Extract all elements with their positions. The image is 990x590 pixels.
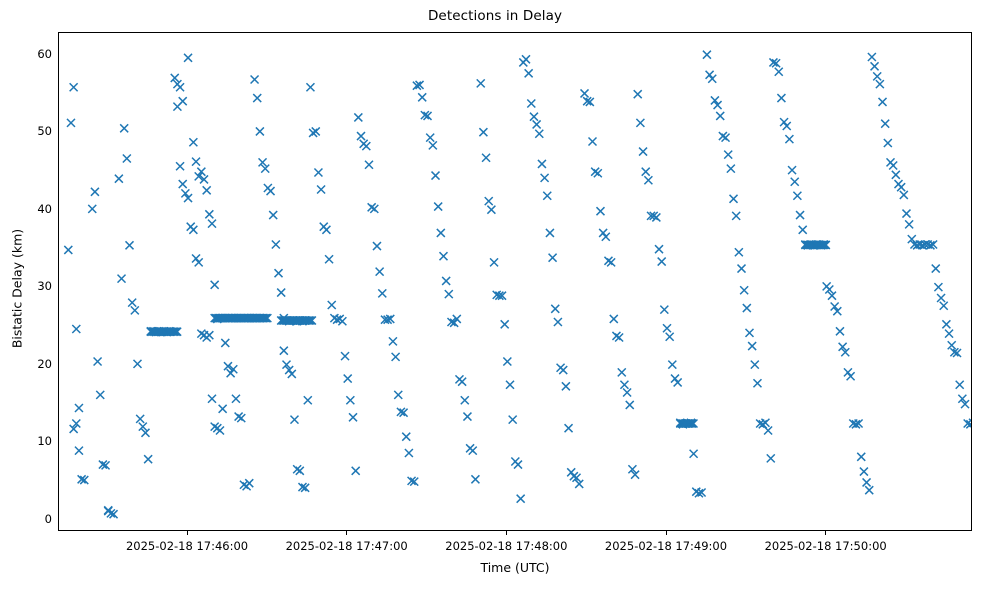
x-tick-mark [346, 531, 347, 535]
x-tick-mark [187, 531, 188, 535]
scatter-series [59, 33, 972, 531]
x-tick-mark [506, 531, 507, 535]
y-tick-label: 20 [12, 357, 52, 371]
y-axis-tick-labels: 0102030405060 [8, 0, 52, 590]
matplotlib-figure: Detections in Delay Bistatic Delay (km) … [0, 0, 990, 590]
x-tick-mark [666, 531, 667, 535]
x-axis-label: Time (UTC) [58, 560, 972, 575]
y-tick-label: 50 [12, 124, 52, 138]
x-tick-mark [825, 531, 826, 535]
x-tick-label: 2025-02-18 17:50:00 [726, 539, 926, 553]
y-tick-label: 30 [12, 279, 52, 293]
y-tick-label: 10 [12, 434, 52, 448]
chart-title: Detections in Delay [0, 8, 990, 24]
plot-area [58, 32, 972, 531]
y-tick-label: 40 [12, 202, 52, 216]
y-tick-label: 0 [12, 512, 52, 526]
y-tick-label: 60 [12, 47, 52, 61]
